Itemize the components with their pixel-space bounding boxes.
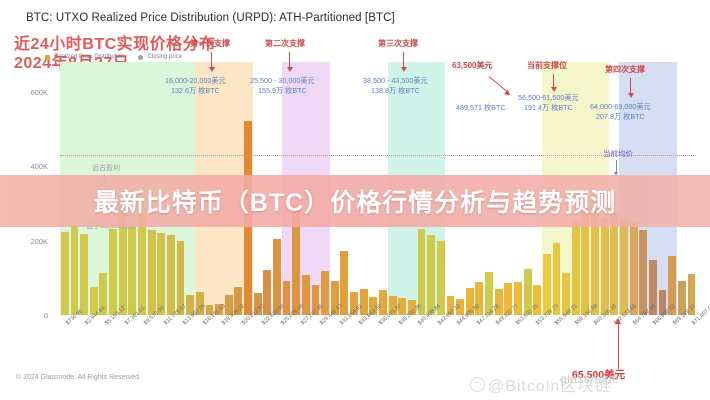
annotation-support-1: 第一次支撑 bbox=[190, 38, 230, 49]
annotation-support-1-amount: 132.6万 枚BTC bbox=[165, 86, 226, 96]
chart-bar bbox=[138, 215, 146, 315]
annotation-support-2: 第二次支撑 bbox=[265, 38, 305, 49]
support-1-arrow-head bbox=[209, 67, 215, 72]
annotation-price-63500-detail: 489,571 枚BTC bbox=[456, 103, 506, 113]
y-axis-tick: 600K bbox=[8, 88, 48, 97]
annotation-support-3-detail: 38,500 - 43,500美元 138.8万 枚BTC bbox=[363, 76, 428, 95]
screenshot-root: BTC: UTXO Realized Price Distribution (U… bbox=[0, 0, 710, 400]
annotation-support-4-head: 第四次支撑 bbox=[605, 64, 645, 75]
support-2-arrow-stem bbox=[289, 52, 290, 68]
chart-bar bbox=[543, 254, 551, 315]
annotation-support-4: 第四次支撑 bbox=[605, 64, 645, 75]
chart-bar bbox=[167, 235, 175, 315]
closing-price-line bbox=[60, 155, 696, 156]
page-title: BTC: UTXO Realized Price Distribution (U… bbox=[26, 12, 395, 24]
chart-bar bbox=[61, 232, 69, 315]
bottom-price-arrow-stem bbox=[618, 323, 619, 369]
chart-bar bbox=[572, 221, 580, 315]
promo-banner-text: 最新比特币（BTC）价格行情分析与趋势预测 bbox=[94, 183, 616, 219]
chart-bar bbox=[418, 229, 426, 315]
weibo-icon bbox=[470, 377, 485, 392]
chart-bar bbox=[620, 219, 628, 315]
annotation-current-support-head: 当前支撑位 bbox=[527, 60, 567, 71]
annotation-support-3-head: 第三次支撑 bbox=[378, 38, 418, 49]
chart-bar bbox=[630, 222, 638, 315]
promo-banner: 最新比特币（BTC）价格行情分析与趋势预测 bbox=[0, 175, 710, 227]
annotation-support-3: 第三次支撑 bbox=[378, 38, 418, 49]
annotation-current-support-price: 56,500-61,500美元 bbox=[518, 93, 579, 103]
annotation-support-4-detail: 64,000-69,000美元 207.8万 枚BTC bbox=[590, 102, 651, 121]
annotation-support-2-head: 第二次支撑 bbox=[265, 38, 305, 49]
square-swatch-icon bbox=[45, 55, 50, 60]
chart-bar bbox=[157, 233, 165, 315]
support-4-arrow-stem bbox=[630, 78, 631, 94]
chart-bar bbox=[283, 281, 291, 315]
chart-bar bbox=[148, 230, 156, 315]
y-axis-tick: 400K bbox=[8, 162, 48, 171]
annotation-support-2-detail: 25,500 - 30,000美元 155.9万 枚BTC bbox=[250, 76, 315, 95]
current-support-arrow-stem bbox=[553, 74, 554, 88]
glassnode-watermark: glassnode bbox=[560, 372, 619, 386]
current-support-arrow-head bbox=[551, 87, 557, 92]
dot-swatch-icon bbox=[138, 55, 143, 60]
chart-legend: Realized Price Distribution Closing pric… bbox=[45, 54, 182, 60]
annotation-support-1-head: 第一次支撑 bbox=[190, 38, 230, 49]
annotation-support-3-amount: 138.8万 枚BTC bbox=[363, 86, 428, 96]
support-4-arrow-head bbox=[628, 93, 634, 98]
chart-bar bbox=[109, 229, 117, 315]
label-current-average-price: 当前均价 bbox=[603, 148, 633, 159]
chart-bar bbox=[427, 235, 435, 315]
copyright-text: © 2024 Glassnode. All Rights Reserved. bbox=[16, 374, 141, 381]
chart-bar bbox=[80, 234, 88, 315]
legend-label-closing-price: Closing price bbox=[147, 54, 182, 60]
annotation-support-1-detail: 16,000-20,000美元 132.6万 枚BTC bbox=[165, 76, 226, 95]
annotation-current-support: 当前支撑位 bbox=[527, 60, 567, 71]
annotation-current-support-detail: 56,500-61,500美元 191.4万 枚BTC bbox=[518, 93, 579, 112]
chart-bar bbox=[360, 289, 368, 315]
support-2-arrow-head bbox=[287, 67, 293, 72]
annotation-support-2-price: 25,500 - 30,000美元 bbox=[250, 76, 315, 86]
annotation-support-4-amount: 207.8万 枚BTC bbox=[590, 112, 651, 122]
annotation-support-1-price: 16,000-20,000美元 bbox=[165, 76, 226, 86]
legend-item-closing-price[interactable]: Closing price bbox=[138, 54, 182, 60]
annotation-price-63500-head: 63,500美元 bbox=[452, 60, 492, 71]
chart-bar bbox=[610, 212, 618, 315]
annotation-support-3-price: 38,500 - 43,500美元 bbox=[363, 76, 428, 86]
chart-bar bbox=[379, 290, 387, 315]
chart-bar bbox=[639, 230, 647, 315]
label-ancient-profit: 远古盈利 bbox=[92, 163, 120, 173]
legend-label-distribution: Realized Price Distribution bbox=[54, 54, 124, 60]
annotation-price-63500-amount: 489,571 枚BTC bbox=[456, 103, 506, 113]
legend-item-distribution[interactable]: Realized Price Distribution bbox=[45, 54, 124, 60]
y-axis-tick: 200K bbox=[8, 237, 48, 246]
annotation-current-support-amount: 191.4万 枚BTC bbox=[518, 103, 579, 113]
y-axis-tick: 0 bbox=[8, 311, 48, 320]
chart-bar bbox=[601, 217, 609, 315]
support-3-arrow-stem bbox=[403, 52, 404, 68]
annotation-price-63500: 63,500美元 bbox=[452, 60, 492, 71]
annotation-support-2-amount: 155.9万 枚BTC bbox=[250, 86, 315, 96]
support-1-arrow-stem bbox=[211, 52, 212, 68]
annotation-support-4-price: 64,000-69,000美元 bbox=[590, 102, 651, 112]
chart-bar bbox=[128, 227, 136, 315]
chart-bar bbox=[71, 225, 79, 315]
support-3-arrow-head bbox=[401, 67, 407, 72]
